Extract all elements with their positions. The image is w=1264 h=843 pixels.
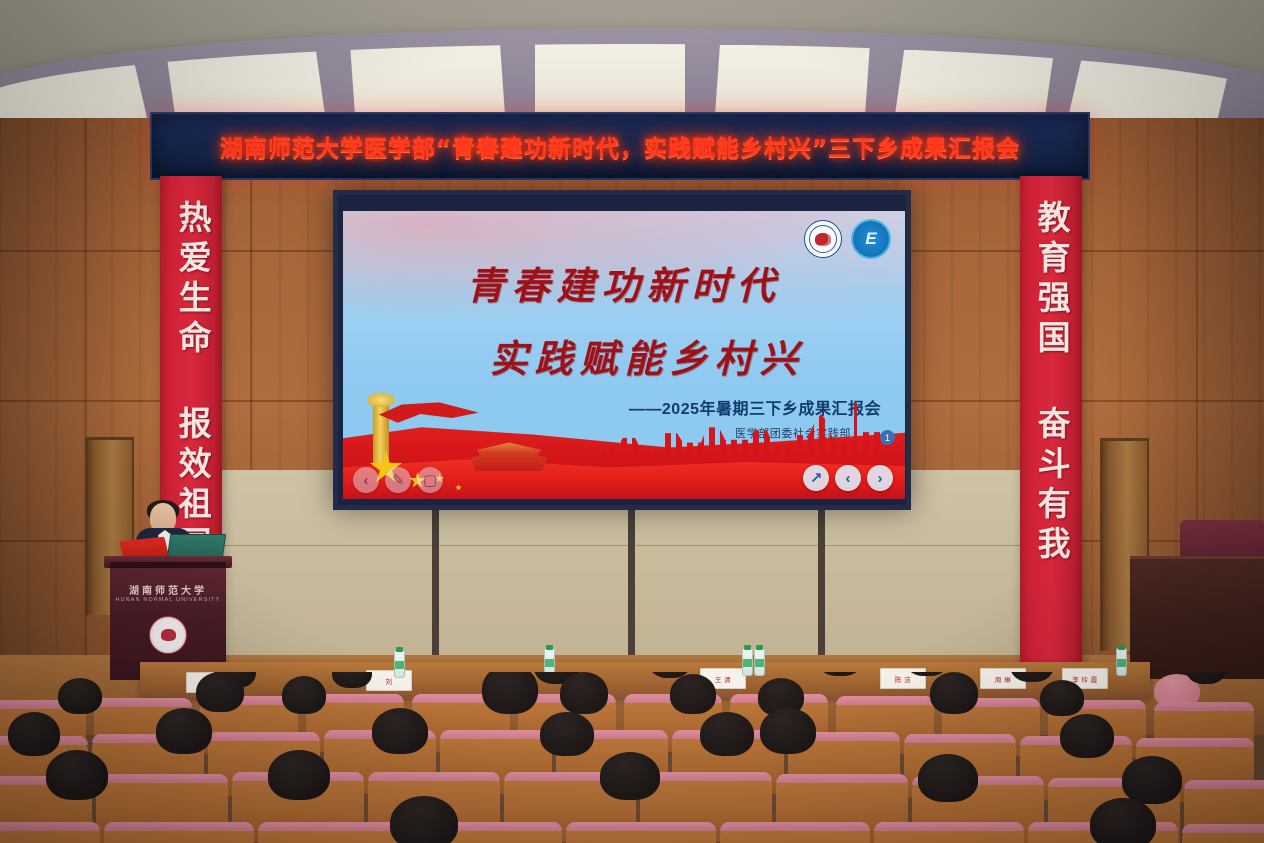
- auditorium-seat[interactable]: [566, 822, 716, 843]
- attendee-head: [390, 796, 458, 843]
- slide-page-indicator: 1: [880, 430, 895, 445]
- podium-name-cn: 湖南师范大学: [110, 582, 226, 597]
- attendee-head: [332, 672, 372, 688]
- attendee-head: [196, 672, 244, 712]
- screen-support-post: [628, 500, 635, 680]
- huabiao-top-icon: [367, 393, 395, 407]
- attendee-head: [58, 678, 102, 714]
- slide-title-line2: 实践赋能乡村兴: [343, 328, 905, 383]
- audience-seating: [0, 672, 1264, 843]
- auditorium-seat[interactable]: [874, 822, 1024, 843]
- attendee-head: [816, 672, 864, 676]
- conference-hall-photo: 湖南师范大学医学部“青春建功新时代，实践赋能乡村兴”三下乡成果汇报会 热爱生命 …: [0, 0, 1264, 843]
- screen-support-post: [818, 500, 825, 680]
- attendee-head: [540, 712, 594, 756]
- led-banner: 湖南师范大学医学部“青春建功新时代，实践赋能乡村兴”三下乡成果汇报会: [150, 112, 1090, 180]
- auditorium-seat[interactable]: [258, 822, 408, 843]
- attendee-head: [268, 750, 330, 800]
- youth-league-glyph: E: [865, 229, 876, 249]
- auditorium-seat[interactable]: [0, 822, 100, 843]
- attendee-head: [282, 676, 326, 714]
- back-icon[interactable]: ‹: [353, 467, 379, 493]
- auditorium-seat[interactable]: [1182, 824, 1264, 843]
- attendee-head: [560, 672, 608, 714]
- slide-subtitle: ——2025年暑期三下乡成果汇报会: [629, 395, 881, 419]
- attendee-head: [372, 708, 428, 754]
- auditorium-seat[interactable]: [104, 822, 254, 843]
- attendee-head: [918, 754, 978, 802]
- next-slide-icon[interactable]: ›: [867, 465, 893, 491]
- attendee-head: [1010, 672, 1054, 682]
- slide-title: 青春建功新时代 实践赋能乡村兴: [343, 255, 905, 383]
- seal-emblem-icon: [161, 629, 176, 641]
- youth-league-logo: E: [851, 219, 891, 259]
- seal-emblem-icon: [815, 233, 831, 246]
- led-banner-text: 湖南师范大学医学部“青春建功新时代，实践赋能乡村兴”三下乡成果汇报会: [220, 129, 1020, 163]
- auditorium-seat[interactable]: [720, 822, 870, 843]
- previous-slide-icon[interactable]: ‹: [835, 465, 861, 491]
- attendee-head: [1090, 798, 1156, 843]
- podium-name-en: HUNAN NORMAL UNIVERSITY: [110, 597, 226, 603]
- pen-icon[interactable]: ✎: [385, 467, 411, 493]
- university-seal-logo: [804, 220, 842, 258]
- university-seal-icon: [149, 616, 187, 654]
- presentation-slide[interactable]: E 青春建功新时代 实践赋能乡村兴 ——2025年暑期三下乡成果汇报会 医学部团…: [343, 211, 905, 499]
- attendee-head: [1040, 680, 1084, 716]
- attendee-head: [482, 672, 538, 714]
- attendee-head: [760, 708, 816, 754]
- slide-logo-group: E: [804, 219, 891, 259]
- square-icon[interactable]: ▢: [417, 467, 443, 493]
- tv-tower-icon: [854, 403, 857, 439]
- attendee-head: [1122, 756, 1182, 804]
- right-banner-text: 教育强国 奋斗有我: [1031, 200, 1071, 566]
- attendee-head: [670, 674, 716, 714]
- piano-cabinet: [1130, 556, 1264, 679]
- attendee-head: [700, 712, 754, 756]
- attendee-head: [156, 708, 212, 754]
- backdrop-seam: [208, 545, 1068, 546]
- attendee-head: [46, 750, 108, 800]
- share-icon[interactable]: ↗: [803, 465, 829, 491]
- wall-seam: [85, 118, 87, 718]
- slide-title-line1: 青春建功新时代: [343, 255, 905, 310]
- projection-screen[interactable]: E 青春建功新时代 实践赋能乡村兴 ——2025年暑期三下乡成果汇报会 医学部团…: [333, 190, 911, 510]
- attendee-head: [1060, 714, 1114, 758]
- attendee-head: [930, 672, 978, 714]
- attendee-head: [600, 752, 660, 800]
- right-vertical-banner: 教育强国 奋斗有我: [1020, 176, 1082, 676]
- attendee-head: [8, 712, 60, 756]
- screen-support-post: [432, 500, 439, 680]
